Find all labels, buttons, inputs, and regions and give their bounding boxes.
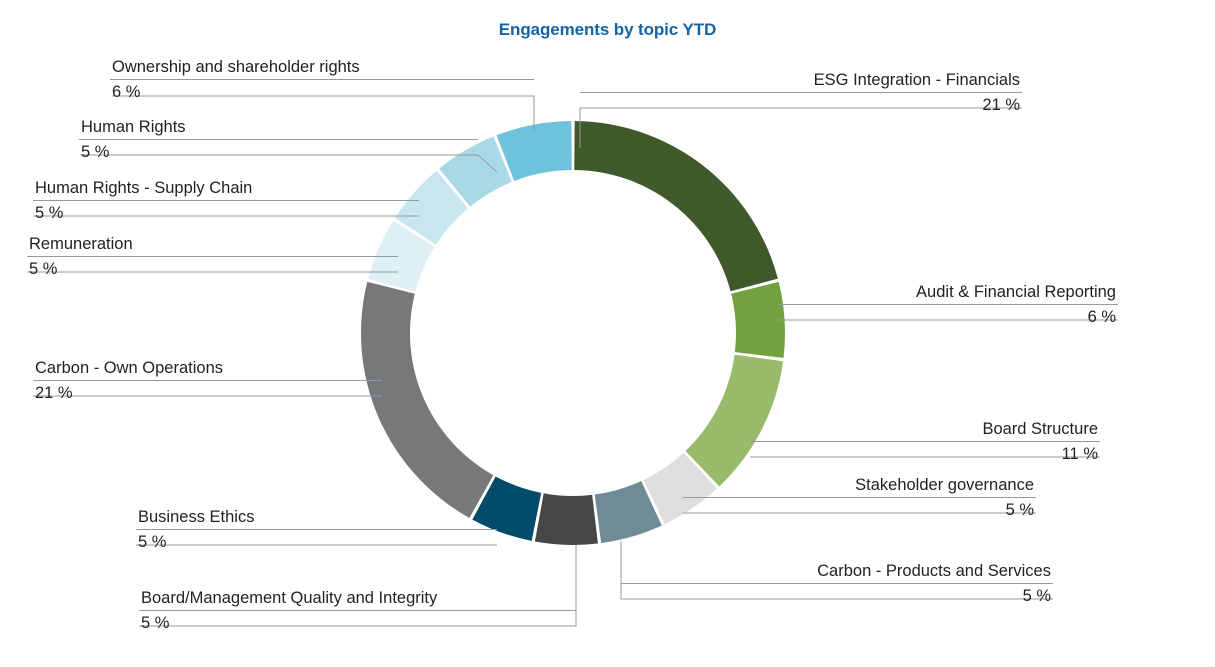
callout-value: 5 %	[136, 530, 497, 552]
callout-label: Ownership and shareholder rights	[110, 58, 534, 79]
callout-audit-financial-reporting: Audit & Financial Reporting 6 %	[778, 283, 1118, 328]
donut-segment[interactable]	[731, 282, 785, 358]
callout-label: Business Ethics	[136, 508, 497, 529]
callout-label: Human Rights	[79, 118, 478, 139]
callout-value: 5 %	[683, 498, 1036, 520]
callout-human-rights-supply-chain: Human Rights - Supply Chain 5 %	[33, 179, 419, 224]
callout-human-rights: Human Rights 5 %	[79, 118, 478, 163]
callout-label: Board Structure	[750, 420, 1100, 441]
callout-board-management-quality-and-integrity: Board/Management Quality and Integrity 5…	[139, 589, 576, 634]
callout-board-structure: Board Structure 11 %	[750, 420, 1100, 465]
callout-carbon-products-and-services: Carbon - Products and Services 5 %	[621, 562, 1053, 607]
callout-stakeholder-governance: Stakeholder governance 5 %	[683, 476, 1036, 521]
callout-esg-integration-financials: ESG Integration - Financials 21 %	[580, 71, 1022, 116]
callout-value: 21 %	[33, 381, 382, 403]
callout-value: 5 %	[27, 257, 398, 279]
callout-value: 5 %	[79, 140, 478, 162]
callout-ownership-and-shareholder-rights: Ownership and shareholder rights 6 %	[110, 58, 534, 103]
callout-label: ESG Integration - Financials	[580, 71, 1022, 92]
donut-segment[interactable]	[574, 121, 778, 291]
callout-value: 5 %	[621, 584, 1053, 606]
callout-label: Stakeholder governance	[683, 476, 1036, 497]
callout-carbon-own-operations: Carbon - Own Operations 21 %	[33, 359, 382, 404]
callout-value: 6 %	[778, 305, 1118, 327]
donut-chart-figure: Engagements by topic YTD	[0, 0, 1215, 667]
callout-label: Remuneration	[27, 235, 398, 256]
callout-label: Carbon - Own Operations	[33, 359, 382, 380]
callout-label: Human Rights - Supply Chain	[33, 179, 419, 200]
callout-value: 11 %	[750, 442, 1100, 464]
donut-segment[interactable]	[535, 493, 598, 545]
callout-value: 5 %	[33, 201, 419, 223]
callout-value: 21 %	[580, 93, 1022, 115]
callout-value: 5 %	[139, 611, 576, 633]
callout-label: Audit & Financial Reporting	[778, 283, 1118, 304]
callout-value: 6 %	[110, 80, 534, 102]
callout-label: Carbon - Products and Services	[621, 562, 1053, 583]
callout-label: Board/Management Quality and Integrity	[139, 589, 576, 610]
callout-remuneration: Remuneration 5 %	[27, 235, 398, 280]
callout-business-ethics: Business Ethics 5 %	[136, 508, 497, 553]
